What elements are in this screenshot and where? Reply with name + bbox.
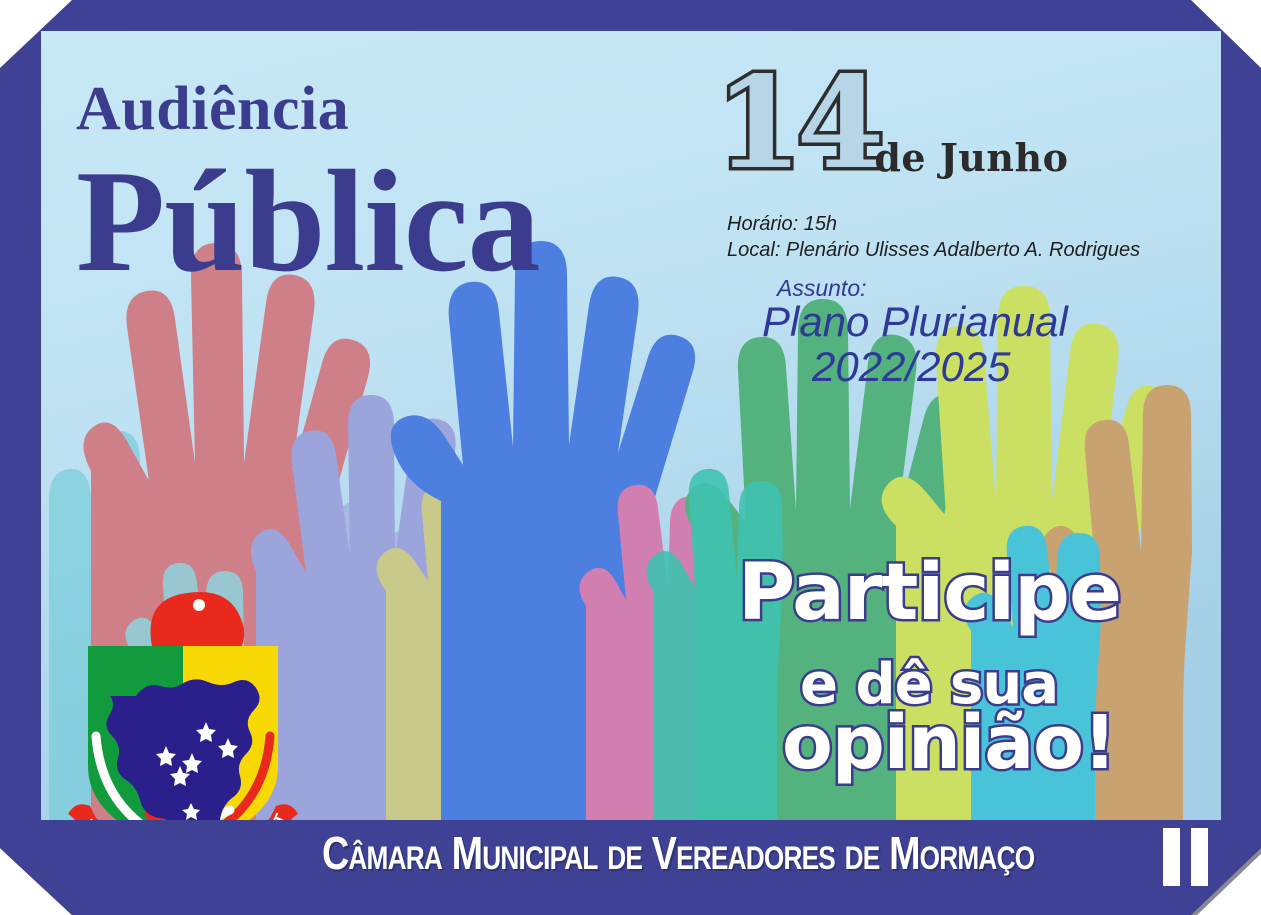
page-title-line1: Audiência <box>76 78 349 140</box>
event-details: Horário: 15h Local: Plenário Ulisses Ada… <box>727 212 1140 263</box>
poster-root: Audiência Pública 14de Junho Horário: 15… <box>0 0 1261 915</box>
banner-bars-decoration <box>1163 828 1208 886</box>
event-time: Horário: 15h <box>727 212 1140 238</box>
event-date: 14de Junho <box>715 60 1073 186</box>
event-month: de Junho <box>874 135 1068 180</box>
organization-name: Câmara Municipal de Vereadores de Mormaç… <box>322 826 1034 880</box>
banner-bar-2 <box>1191 828 1208 886</box>
subject-line1: Plano Plurianual <box>762 300 1068 345</box>
subject-line2: 2022/2025 <box>812 345 1011 390</box>
page-title-line2: Pública <box>76 148 540 294</box>
event-place: Local: Plenário Ulisses Adalberto A. Rod… <box>727 238 1140 264</box>
event-day: 14 <box>715 60 878 186</box>
banner-bar-1 <box>1163 828 1180 886</box>
